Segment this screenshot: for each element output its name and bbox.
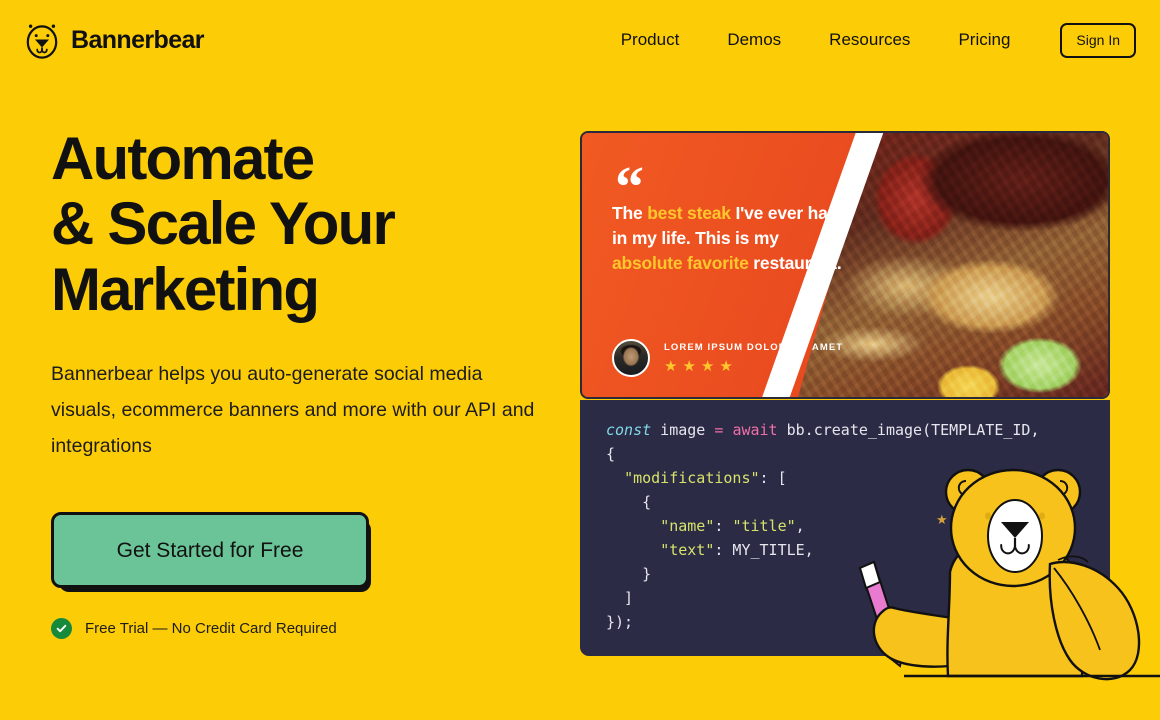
code-token: await [732,421,777,439]
nav-link-resources[interactable]: Resources [805,30,934,50]
code-token: "modifications" [624,469,759,487]
code-token [606,517,660,535]
code-token: image [651,421,714,439]
site-header: Bannerbear Product Demos Resources Prici… [0,0,1160,80]
get-started-button[interactable]: Get Started for Free [51,512,369,588]
code-token: "name" [660,517,714,535]
landing-page: Bannerbear Product Demos Resources Prici… [0,0,1160,720]
code-token [606,469,624,487]
code-token: const [606,421,651,439]
brand-name: Bannerbear [71,28,204,53]
code-token: bb.create_image(TEMPLATE_ID, [778,421,1040,439]
star-icon: ★ [719,359,732,374]
quote-part-3: restaurant. [749,253,842,273]
code-token: } [606,565,651,583]
main-navigation: Product Demos Resources Pricing Sign In [597,0,1136,80]
author-name: LOREM IPSUM DOLOR SIT AMET [664,342,843,353]
bear-logo-icon [24,21,60,59]
star-icon: ★ [701,359,714,374]
testimonial-banner-preview[interactable]: “ The best steak I've ever had in my lif… [580,131,1110,399]
star-icon: ★ [682,359,695,374]
check-circle-icon [51,618,72,639]
nav-link-demos[interactable]: Demos [703,30,805,50]
code-token: "title" [732,517,795,535]
quote-part-1: The [612,203,647,223]
nav-link-product[interactable]: Product [597,30,704,50]
code-token: , [796,517,805,535]
author-block: LOREM IPSUM DOLOR SIT AMET ★ ★ ★ ★ [664,342,843,374]
code-token: "text" [660,541,714,559]
cta-container: Get Started for Free [51,512,371,592]
testimonial-author-row: LOREM IPSUM DOLOR SIT AMET ★ ★ ★ ★ [612,339,843,377]
code-token: { [606,445,615,463]
code-token: }); [606,613,633,631]
code-token: : [714,517,732,535]
code-token: : [ [760,469,787,487]
page-title: Automate & Scale Your Marketing [51,126,571,322]
nav-link-pricing[interactable]: Pricing [934,30,1034,50]
code-token: { [606,493,651,511]
hero-content: Automate & Scale Your Marketing Bannerbe… [51,126,571,639]
hero-subheading: Bannerbear helps you auto-generate socia… [51,356,541,464]
bear-mascot-illustration [846,460,1160,720]
testimonial-quote: The best steak I've ever had in my life.… [612,201,852,276]
free-trial-label: Free Trial — No Credit Card Required [85,620,337,637]
star-icon: ★ [664,359,677,374]
code-token [606,541,660,559]
avatar [612,339,650,377]
quote-highlight-2: absolute favorite [612,253,749,273]
quote-highlight-1: best steak [647,203,731,223]
code-token: ] [606,589,633,607]
brand-logo[interactable]: Bannerbear [24,21,204,59]
star-rating: ★ ★ ★ ★ [664,359,843,374]
sign-in-button[interactable]: Sign In [1060,23,1136,58]
free-trial-note: Free Trial — No Credit Card Required [51,618,571,639]
code-token: : MY_TITLE, [714,541,813,559]
